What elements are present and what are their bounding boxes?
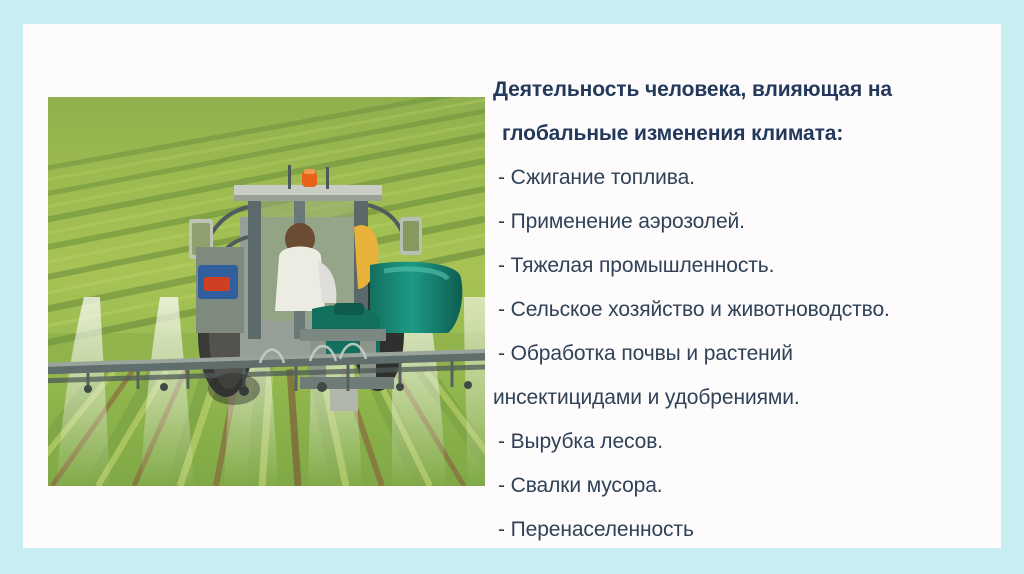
bullet-item-fuel-burning: - Сжигание топлива.	[493, 156, 1005, 200]
slide-root: Деятельность человека, влияющая на глоба…	[0, 0, 1024, 574]
bullet-item-overpopulation: - Перенаселенность	[493, 508, 1005, 552]
slide-title-line-1: Деятельность человека, влияющая на	[493, 68, 1005, 112]
bullet-item-agriculture: - Сельское хозяйство и животноводство.	[493, 288, 1005, 332]
tractor-spraying-photo	[48, 97, 485, 486]
bullet-item-deforestation: - Вырубка лесов.	[493, 420, 1005, 464]
bullet-item-aerosols: - Применение аэрозолей.	[493, 200, 1005, 244]
bullet-item-heavy-industry: - Тяжелая промышленность.	[493, 244, 1005, 288]
bullet-item-landfills: - Свалки мусора.	[493, 464, 1005, 508]
bullet-text-column: Деятельность человека, влияющая на глоба…	[493, 68, 1005, 552]
tractor-spraying-illustration	[48, 97, 485, 486]
slide-title-line-2: глобальные изменения климата:	[493, 112, 1005, 156]
slide-content-panel: Деятельность человека, влияющая на глоба…	[23, 24, 1001, 548]
bullet-item-soil-treatment: - Обработка почвы и растений	[493, 332, 1005, 376]
bullet-item-soil-treatment-continued: инсектицидами и удобрениями.	[493, 376, 1005, 420]
